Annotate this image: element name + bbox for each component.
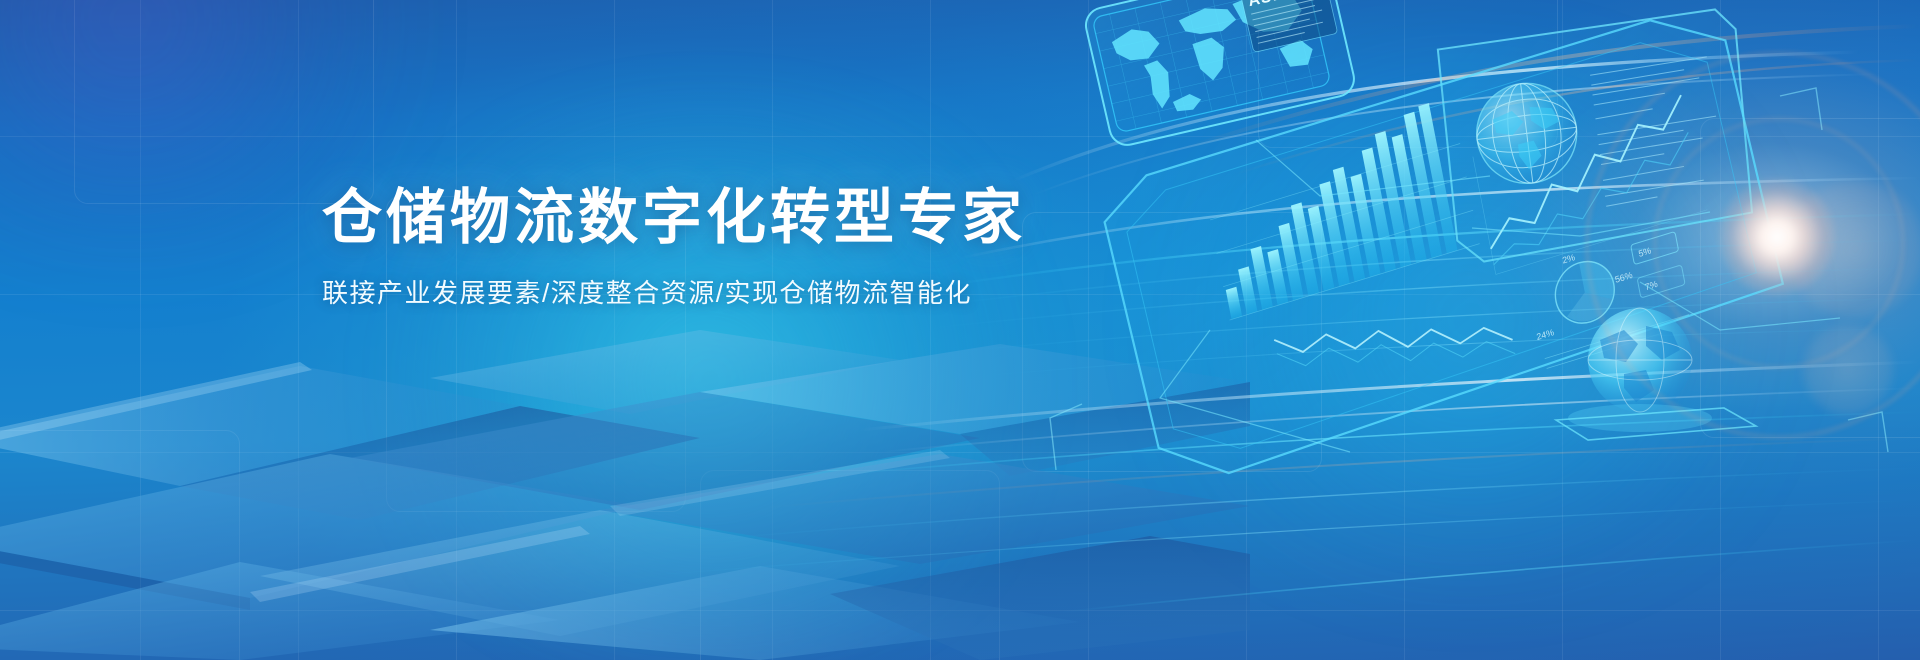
grid-rounded-box-1 (74, 0, 374, 204)
banner-headline: 仓储物流数字化转型专家 (322, 186, 1102, 249)
map-panel-inner-frame (1092, 0, 1331, 133)
isometric-plates (0, 330, 1250, 660)
svg-text:24%: 24% (1536, 327, 1555, 342)
asia-label-badge: ASIA (1240, 0, 1338, 52)
banner-subtitle: 联接产业发展要素/深度整合资源/实现仓储物流智能化 (322, 273, 1102, 310)
globe-wireframe-icon (1471, 78, 1582, 189)
hero-banner: ASIA (0, 0, 1920, 660)
banner-copy: 仓储物流数字化转型专家 联接产业发展要素/深度整合资源/实现仓储物流智能化 (322, 186, 1102, 310)
svg-text:2%: 2% (1561, 252, 1575, 266)
lens-flare-ghost-2 (1800, 322, 1896, 418)
grid-rounded-box-2 (1258, 0, 1558, 148)
decline-chart-icon (1274, 271, 1515, 422)
lens-flare-icon (1718, 178, 1836, 296)
bar-chart-icon (1200, 92, 1479, 320)
map-panel-frame (1082, 0, 1357, 148)
asia-label: ASIA (1246, 0, 1291, 10)
world-map-panel: ASIA (1082, 0, 1357, 148)
world-map-icon (1092, 0, 1331, 133)
